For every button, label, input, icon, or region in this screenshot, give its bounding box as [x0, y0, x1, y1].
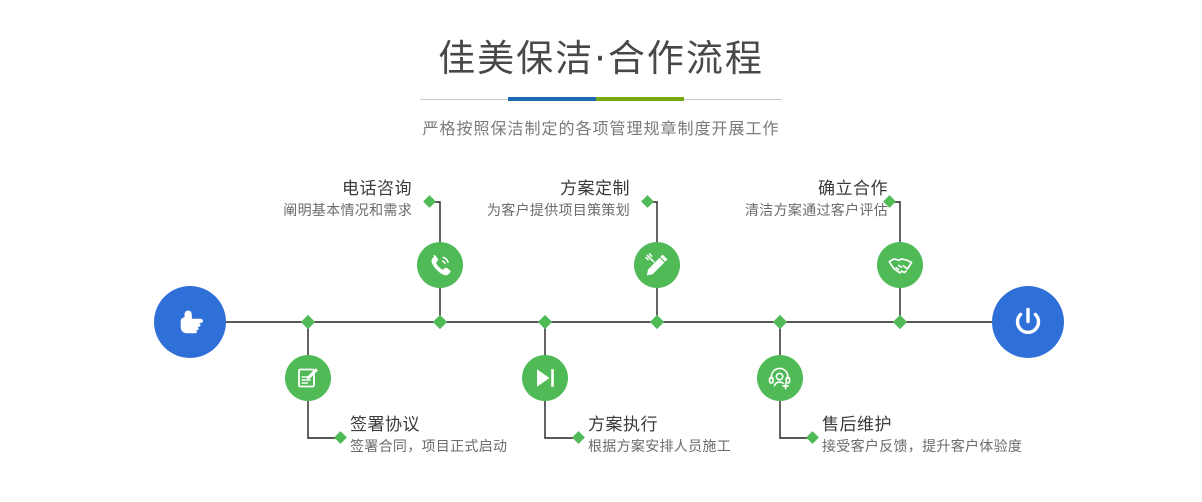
flow-start-node[interactable]: [154, 286, 226, 358]
step-node-icon-5[interactable]: [877, 242, 923, 288]
step-label-3: 方案定制 为客户提供项目策策划: [487, 178, 630, 222]
step-label-5: 确立合作 清洁方案通过客户评估: [745, 178, 888, 222]
step-desc-5: 清洁方案通过客户评估: [745, 201, 888, 222]
flow-infographic-page: 佳美保洁·合作流程 严格按照保洁制定的各项管理规章制度开展工作: [0, 0, 1202, 502]
step-desc-4: 根据方案安排人员施工: [588, 437, 731, 458]
flow-end-node[interactable]: [992, 286, 1064, 358]
step-title-1: 电话咨询: [283, 178, 412, 201]
play-skip-icon: [532, 365, 558, 391]
step-node-icon-1[interactable]: [417, 242, 463, 288]
header: 佳美保洁·合作流程 严格按照保洁制定的各项管理规章制度开展工作: [0, 0, 1202, 139]
process-flow-diagram: 电话咨询 阐明基本情况和需求 签署协议 签署合同，项目正式启动: [0, 150, 1202, 490]
step-title-6: 售后维护: [822, 414, 1022, 437]
page-subtitle: 严格按照保洁制定的各项管理规章制度开展工作: [0, 106, 1202, 139]
divider-segment-blue: [508, 97, 596, 101]
step-title-4: 方案执行: [588, 414, 731, 437]
step-node-icon-2[interactable]: [285, 355, 331, 401]
step-node-icon-6[interactable]: [757, 355, 803, 401]
step-title-5: 确立合作: [745, 178, 888, 201]
step-desc-2: 签署合同，项目正式启动: [350, 437, 507, 458]
power-icon: [1008, 302, 1048, 342]
divider-segment-green: [596, 97, 684, 101]
step-title-3: 方案定制: [487, 178, 630, 201]
step-node-icon-3[interactable]: [634, 242, 680, 288]
step-desc-3: 为客户提供项目策策划: [487, 201, 630, 222]
step-label-6: 售后维护 接受客户反馈，提升客户体验度: [822, 414, 1022, 458]
step-desc-6: 接受客户反馈，提升客户体验度: [822, 437, 1022, 458]
step-label-2: 签署协议 签署合同，项目正式启动: [350, 414, 507, 458]
step-label-4: 方案执行 根据方案安排人员施工: [588, 414, 731, 458]
title-divider: [420, 94, 782, 106]
step-title-2: 签署协议: [350, 414, 507, 437]
step-node-icon-4[interactable]: [522, 355, 568, 401]
document-sign-icon: [295, 365, 321, 391]
handshake-icon: [887, 252, 914, 279]
phone-call-icon: [427, 252, 453, 278]
customer-support-add-icon: [767, 365, 793, 391]
step-label-1: 电话咨询 阐明基本情况和需求: [283, 178, 412, 222]
hand-pointing-icon: [170, 302, 210, 342]
pencil-ruler-icon: [644, 252, 670, 278]
step-desc-1: 阐明基本情况和需求: [283, 201, 412, 222]
page-title: 佳美保洁·合作流程: [0, 0, 1202, 82]
